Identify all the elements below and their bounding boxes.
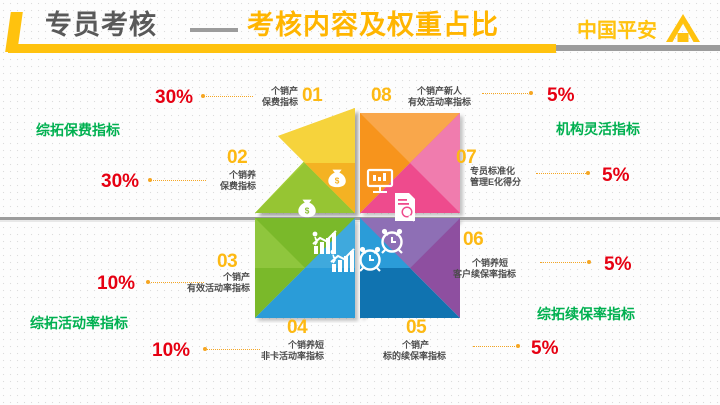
item-caption-01-line2: 保费指标 [196,97,298,109]
item-caption-08-line1: 个销产新人 [417,86,462,98]
item-number-03: 03 [217,252,237,271]
item-percent-03: 10% [97,274,135,293]
item-caption-07-line2: 管理E化得分 [470,177,521,189]
group-label-3: 综拓活动率指标 [30,315,128,331]
item-caption-07-line1: 专员标准化 [470,166,515,178]
item-percent-08: 5% [547,86,574,105]
header-underline-gray [556,45,720,51]
group-label-1: 综拓保费指标 [36,122,120,138]
item-caption-08-line2: 有效活动率指标 [408,97,471,109]
item-percent-02: 30% [101,172,139,191]
brand-name: 中国平安 [577,14,657,43]
group-label-2: 机构灵活指标 [556,121,640,137]
svg-text:$: $ [335,176,340,185]
item-number-05: 05 [406,318,426,337]
slide-canvas: 专员考核 考核内容及权重占比 中国平安 [0,0,720,405]
connector-dot-02 [148,178,152,182]
header-underline-yellow [8,44,556,53]
connector-dot-07 [586,171,590,175]
connector-line-07 [536,173,588,175]
item-caption-05-line1: 个销产 [402,340,429,352]
pinwheel-diagram: $ $ [250,108,465,323]
item-number-07: 07 [456,148,476,167]
item-caption-02-line2: 保费指标 [166,181,256,193]
group-label-4: 综拓续保率指标 [537,306,635,322]
item-caption-06-line2: 客户续保率指标 [453,269,516,281]
item-caption-04-line2: 非卡活动率指标 [222,351,324,363]
item-percent-01: 30% [155,88,193,107]
connector-line-03 [148,282,204,284]
connector-dot-03 [146,280,150,284]
brand-logo: 中国平安 [577,13,702,43]
connector-line-04 [205,349,260,351]
connector-line-02 [150,180,206,182]
item-number-02: 02 [227,148,247,167]
item-number-04: 04 [287,318,307,337]
connector-dot-01 [201,94,205,98]
item-percent-05: 5% [531,339,558,358]
connector-dot-08 [529,91,533,95]
ping-an-logo-icon [664,13,702,43]
connector-line-06 [540,262,588,264]
connector-dot-05 [516,344,520,348]
item-percent-07: 5% [602,166,629,185]
page-title-left: 专员考核 [45,8,157,42]
connector-line-08 [482,93,530,95]
document-search-icon [395,193,415,222]
item-number-01: 01 [302,86,322,105]
item-number-06: 06 [463,230,483,249]
connector-dot-06 [587,260,591,264]
page-title-right: 考核内容及权重占比 [247,8,499,42]
item-percent-04: 10% [152,341,190,360]
item-percent-06: 5% [604,255,631,274]
item-caption-03-line2: 有效活动率指标 [150,283,250,295]
connector-line-01 [203,96,253,98]
connector-line-05 [473,346,517,348]
item-number-08: 08 [371,86,391,105]
slide-header: 专员考核 考核内容及权重占比 中国平安 [0,0,720,60]
item-caption-05-line2: 标的续保率指标 [383,351,446,363]
title-separator-dash [190,28,238,32]
item-caption-06-line1: 个销养短 [472,258,508,270]
connector-dot-04 [203,347,207,351]
svg-text:$: $ [305,206,310,215]
wheel-quadrant-top-left [255,108,355,213]
